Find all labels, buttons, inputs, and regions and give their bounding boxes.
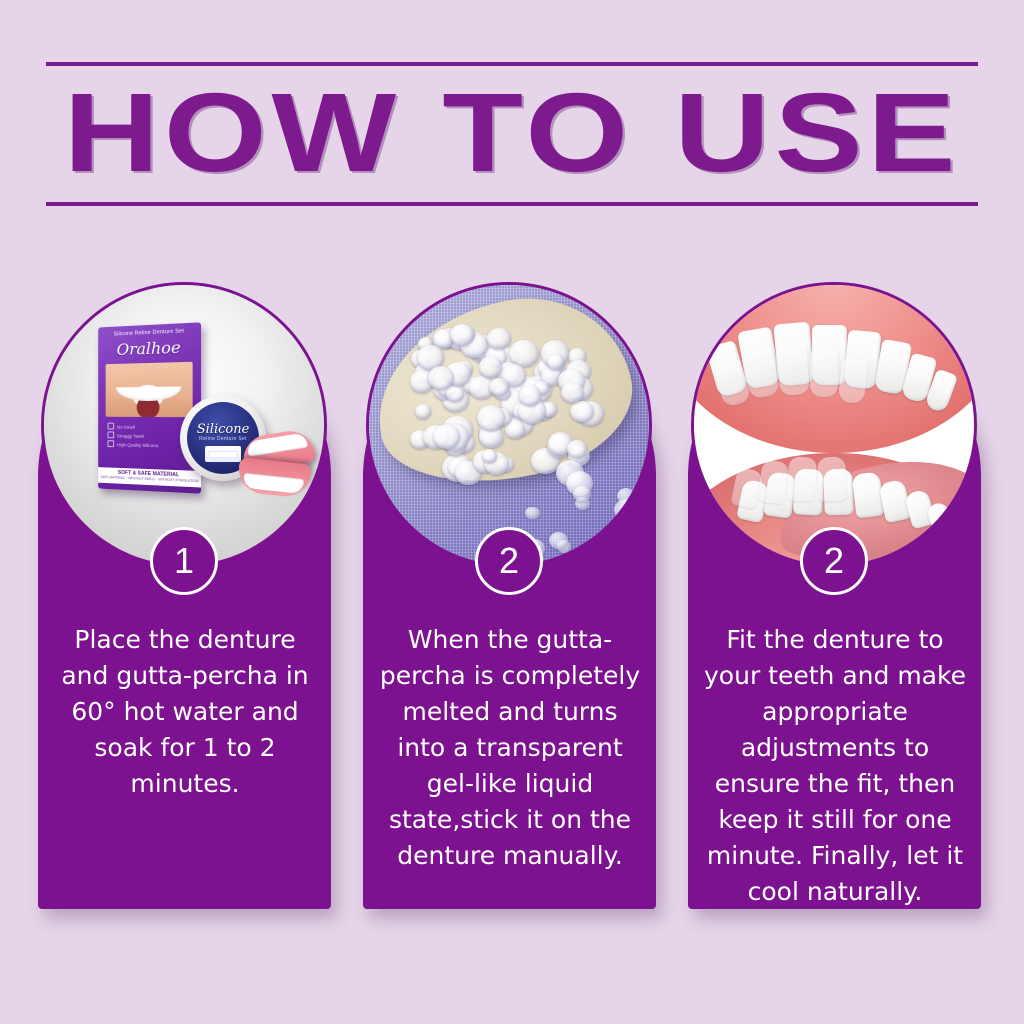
step-2-text: When the gutta-percha is completely melt…: [376, 622, 644, 874]
page-title: HOW TO USE: [0, 66, 1024, 202]
step-number-badge-3: 2: [800, 527, 868, 595]
product-box-bottom-band: SOFT & SAFE MATERIAL SAFE MATERIAL · WIT…: [98, 467, 201, 487]
step-3-text: Fit the denture to your teeth and make a…: [701, 622, 969, 910]
step-number-badge-1: 1: [150, 527, 218, 595]
step-1-image: Silicone Reline Denture Set Oralhoe No S…: [41, 282, 327, 568]
denture-veneer-tooth: [757, 459, 790, 504]
gutta-percha-bead: [487, 328, 511, 350]
gutta-percha-bead: [561, 382, 584, 403]
denture-lower-arch: [236, 457, 311, 498]
denture-veneer-tooth: [817, 457, 847, 502]
product-box: Silicone Reline Denture Set Oralhoe No S…: [98, 322, 201, 493]
denture-veneer-tooth: [810, 349, 838, 397]
gutta-percha-bead: [477, 405, 505, 431]
steps-container: Silicone Reline Denture Set Oralhoe No S…: [0, 282, 1024, 942]
tooth: [925, 500, 956, 537]
smiling-mouth-photo: [106, 362, 193, 417]
product-feature-list: No Smell Straggy Teeth High Quality Sili…: [108, 423, 159, 451]
gutta-percha-bead: [489, 378, 509, 396]
denture-model: [242, 433, 316, 495]
gutta-percha-bead: [525, 507, 539, 520]
gutta-percha-bead: [479, 356, 503, 378]
gutta-percha-bead: [549, 532, 568, 549]
step-number-badge-2: 2: [475, 527, 543, 595]
gutta-percha-beads: [369, 285, 649, 565]
header-rule-bottom: [46, 202, 978, 206]
gutta-percha-bead: [614, 499, 639, 521]
teeth-row: [694, 285, 974, 565]
gutta-percha-bead: [482, 449, 497, 463]
denture-veneer-tooth: [838, 358, 868, 404]
jar-label-teeth-graphic: [205, 446, 241, 462]
denture-veneer-tooth: [787, 456, 817, 501]
step-1-text: Place the denture and gutta-percha in 60…: [51, 622, 319, 802]
gutta-percha-bead: [415, 404, 431, 419]
gutta-percha-bead: [570, 401, 594, 423]
denture-veneer-tooth: [776, 342, 810, 396]
page-header: HOW TO USE: [46, 62, 978, 206]
gutta-percha-bead: [547, 354, 564, 370]
product-brand-logo: Oralhoe: [98, 337, 201, 360]
step-3-image: [691, 282, 977, 568]
step-2-image: [366, 282, 652, 568]
gutta-percha-bead: [614, 544, 637, 565]
product-feature-item: High Quality Silicone: [108, 440, 159, 450]
